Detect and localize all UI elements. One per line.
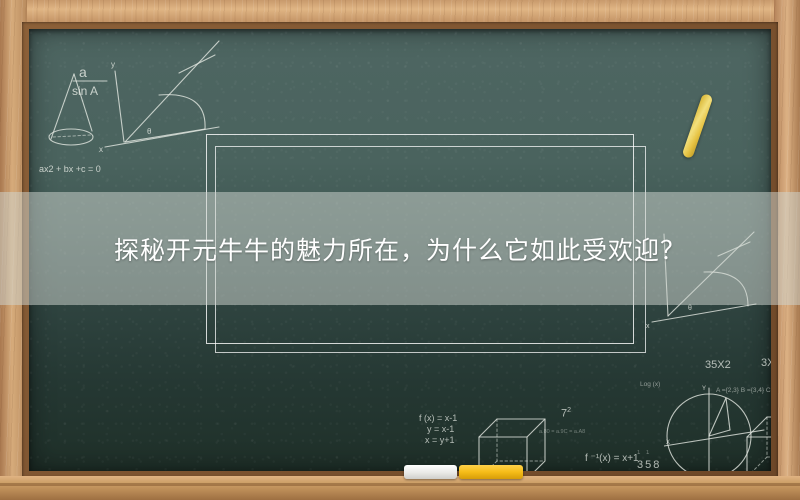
chalk-function-equations: f (x) = x-1 y = x-1 x = y+1	[419, 413, 457, 446]
svg-text:y: y	[111, 60, 115, 69]
chalk-cube-right	[741, 407, 771, 471]
svg-text:ax2 + bx +c = 0: ax2 + bx +c = 0	[39, 164, 101, 174]
exp-7-sup: 2	[567, 407, 571, 414]
svg-text:sin A: sin A	[72, 84, 98, 98]
white-chalk-piece[interactable]	[404, 465, 457, 479]
chalk-tray	[0, 476, 800, 500]
chalk-multiplication-1: 35X2	[705, 359, 731, 371]
eq-line-3: x = y+1	[419, 435, 457, 446]
chalk-addition-sum: 1 1 358 279 637	[637, 447, 661, 471]
chalk-faint-note: a.80 = a.9C = a.A8	[539, 429, 585, 435]
svg-text:x: x	[646, 323, 650, 330]
tray-lip	[0, 483, 800, 486]
chalk-multiplication-2: 3X2	[761, 357, 771, 369]
screenshot-stage: y x θ a sin A ax2 + bx +c = 0 θ x	[0, 0, 800, 500]
svg-text:θ: θ	[147, 127, 152, 136]
title-overlay-band: 探秘开元牛牛的魅力所在，为什么它如此受欢迎？	[0, 192, 800, 305]
yellow-chalk-piece[interactable]	[459, 465, 523, 479]
svg-text:Y: Y	[702, 386, 706, 392]
chalk-set-expression: A ={2,3} B ={3,4} C ={5,6}	[716, 387, 771, 394]
eq-line-1: f (x) = x-1	[419, 413, 457, 424]
chalk-cube-left	[469, 411, 559, 471]
svg-text:x: x	[99, 145, 103, 154]
chalk-log-label: Log (x)	[640, 381, 660, 388]
sum-carry: 1 1	[637, 447, 661, 459]
chalk-circle-with-axes: Y X	[664, 384, 771, 471]
chalk-exponent-7: 72	[561, 407, 571, 420]
yellow-chalk-on-board[interactable]	[682, 93, 714, 159]
svg-text:θ: θ	[688, 305, 692, 312]
page-title: 探秘开元牛牛的魅力所在，为什么它如此受欢迎？	[114, 231, 686, 267]
sum-top: 358	[637, 459, 661, 471]
svg-text:X: X	[666, 440, 670, 446]
chalk-inverse-function: f ⁻¹(x) = x+1	[585, 453, 639, 464]
svg-text:a: a	[79, 64, 87, 80]
eq-line-2: y = x-1	[419, 424, 457, 435]
